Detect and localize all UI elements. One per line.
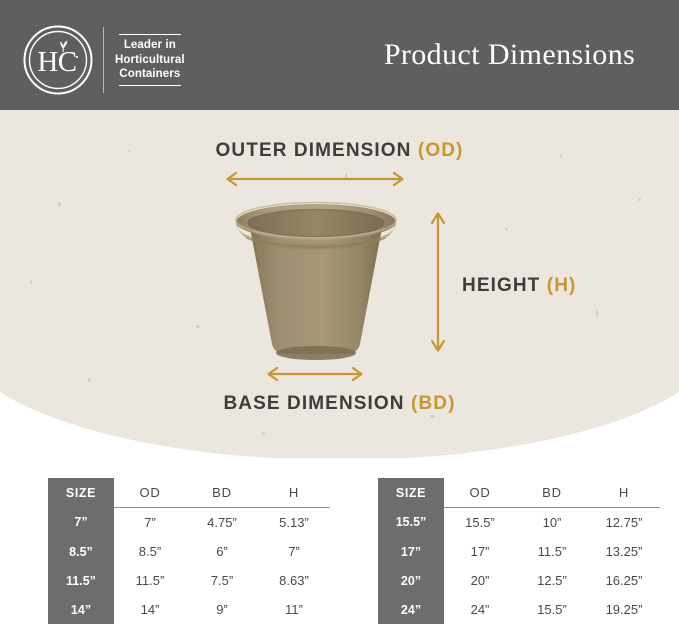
cell-bd: 7.5” xyxy=(186,566,258,595)
table-row: 20” 20” 12.5” 16.25” xyxy=(378,566,660,595)
cell-bd: 9” xyxy=(186,595,258,624)
cell-h: 7” xyxy=(258,537,330,566)
cell-bd: 11.5” xyxy=(516,537,588,566)
cell-size: 24” xyxy=(378,595,444,624)
cell-od: 17” xyxy=(444,537,516,566)
size-table-large: SIZE OD BD H 15.5” 15.5” 10” 12.75” 17” … xyxy=(378,478,660,624)
cell-h: 8.63” xyxy=(258,566,330,595)
table-header-row: SIZE OD BD H xyxy=(378,478,660,508)
outer-dimension-label: OUTER DIMENSION (OD) xyxy=(0,140,679,162)
texture-speck xyxy=(505,228,508,231)
cell-size: 14” xyxy=(48,595,114,624)
table-row: 7” 7” 4.75” 5.13” xyxy=(48,508,330,538)
base-dimension-label: BASE DIMENSION (BD) xyxy=(0,393,679,415)
table-body: 15.5” 15.5” 10” 12.75” 17” 17” 11.5” 13.… xyxy=(378,508,660,625)
cell-size: 8.5” xyxy=(48,537,114,566)
cell-od: 15.5” xyxy=(444,508,516,538)
table-header-row: SIZE OD BD H xyxy=(48,478,330,508)
page-header: HC Leader in Horticultural Containers Pr… xyxy=(0,0,679,110)
logo-divider xyxy=(103,27,104,93)
dimension-tables: SIZE OD BD H 7” 7” 4.75” 5.13” 8.5” 8.5”… xyxy=(0,470,679,636)
table-row: 14” 14” 9” 11” xyxy=(48,595,330,624)
outer-dimension-arrow-icon xyxy=(222,172,408,186)
texture-speck xyxy=(638,198,641,201)
texture-speck xyxy=(58,202,61,207)
table-head: SIZE OD BD H xyxy=(378,478,660,508)
height-arrow-icon xyxy=(430,208,446,356)
bd-arrow-svg xyxy=(263,367,367,381)
cell-od: 24” xyxy=(444,595,516,624)
cell-od: 7” xyxy=(114,508,186,538)
column-header-od: OD xyxy=(444,478,516,508)
diagram-panel: OUTER DIMENSION (OD) xyxy=(0,110,679,458)
cell-od: 20” xyxy=(444,566,516,595)
svg-text:HC: HC xyxy=(37,46,76,78)
height-arrow-svg xyxy=(430,208,446,356)
table-body: 7” 7” 4.75” 5.13” 8.5” 8.5” 6” 7” 11.5” … xyxy=(48,508,330,625)
texture-speck xyxy=(262,432,265,435)
column-header-size: SIZE xyxy=(378,478,444,508)
texture-speck xyxy=(430,415,435,418)
outer-dimension-abbr: (OD) xyxy=(418,140,464,161)
base-dimension-arrow-icon xyxy=(263,367,367,381)
cell-bd: 10” xyxy=(516,508,588,538)
column-header-h: H xyxy=(258,478,330,508)
od-arrow-svg xyxy=(222,172,408,186)
cell-h: 5.13” xyxy=(258,508,330,538)
table-row: 24” 24” 15.5” 19.25” xyxy=(378,595,660,624)
size-table-small: SIZE OD BD H 7” 7” 4.75” 5.13” 8.5” 8.5”… xyxy=(48,478,330,624)
height-label: HEIGHT (H) xyxy=(462,275,576,297)
cell-h: 11” xyxy=(258,595,330,624)
cell-size: 11.5” xyxy=(48,566,114,595)
cell-bd: 15.5” xyxy=(516,595,588,624)
cell-size: 17” xyxy=(378,537,444,566)
column-header-bd: BD xyxy=(516,478,588,508)
cell-od: 8.5” xyxy=(114,537,186,566)
cell-size: 7” xyxy=(48,508,114,538)
hc-logo-svg: HC xyxy=(22,24,94,96)
cell-h: 13.25” xyxy=(588,537,660,566)
column-header-size: SIZE xyxy=(48,478,114,508)
column-header-bd: BD xyxy=(186,478,258,508)
table-row: 8.5” 8.5” 6” 7” xyxy=(48,537,330,566)
table-row: 15.5” 15.5” 10” 12.75” xyxy=(378,508,660,538)
cell-h: 12.75” xyxy=(588,508,660,538)
cell-bd: 4.75” xyxy=(186,508,258,538)
tagline-line-2: Horticultural xyxy=(115,53,185,68)
hc-circle-logo-icon: HC xyxy=(22,24,94,96)
table-row: 17” 17” 11.5” 13.25” xyxy=(378,537,660,566)
cell-h: 16.25” xyxy=(588,566,660,595)
column-header-h: H xyxy=(588,478,660,508)
planter-pot-illustration xyxy=(228,200,404,372)
height-text: HEIGHT xyxy=(462,275,547,296)
texture-speck xyxy=(88,378,91,382)
cell-size: 20” xyxy=(378,566,444,595)
base-dimension-abbr: (BD) xyxy=(411,393,456,414)
cell-h: 19.25” xyxy=(588,595,660,624)
cell-od: 11.5” xyxy=(114,566,186,595)
table-head: SIZE OD BD H xyxy=(48,478,330,508)
pot-svg xyxy=(228,200,404,372)
table-row: 11.5” 11.5” 7.5” 8.63” xyxy=(48,566,330,595)
cell-od: 14” xyxy=(114,595,186,624)
outer-dimension-text: OUTER DIMENSION xyxy=(216,140,418,161)
cell-bd: 12.5” xyxy=(516,566,588,595)
brand-logo: HC Leader in Horticultural Containers xyxy=(22,24,185,96)
texture-speck xyxy=(30,280,32,284)
page-title: Product Dimensions xyxy=(340,0,679,110)
tagline-line-3: Containers xyxy=(115,67,185,82)
brand-tagline: Leader in Horticultural Containers xyxy=(115,34,185,86)
cell-bd: 6” xyxy=(186,537,258,566)
cell-size: 15.5” xyxy=(378,508,444,538)
height-abbr: (H) xyxy=(547,275,577,296)
texture-speck xyxy=(596,310,598,317)
base-dimension-text: BASE DIMENSION xyxy=(223,393,411,414)
column-header-od: OD xyxy=(114,478,186,508)
texture-speck xyxy=(196,325,200,328)
tagline-line-1: Leader in xyxy=(115,38,185,53)
